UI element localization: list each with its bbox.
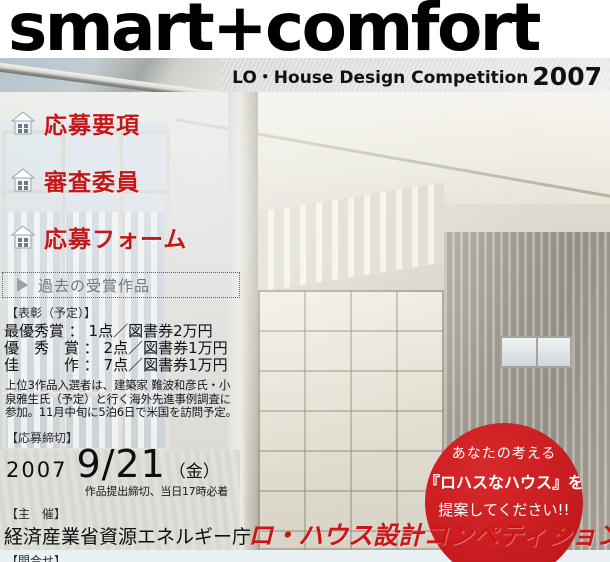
host-organization-name: 経済産業省資源エネルギー庁 [4, 522, 252, 549]
competition-title: ロ・ハウス設計コンペティション [248, 516, 610, 552]
nav-item-past-award-works[interactable]: 過去の受賞作品 [2, 272, 240, 298]
deadline-line: 2007 9/21 （金） [6, 445, 252, 483]
photo-shoji-screen [258, 290, 444, 550]
past-works-label: 過去の受賞作品 [38, 275, 150, 296]
photo-small-window [500, 336, 572, 368]
deadline-date: 9/21 [76, 445, 165, 483]
contact-section-tag: 【問合せ】 [6, 552, 252, 562]
deadline-day-of-week: （金） [169, 457, 220, 482]
host-section-tag: 【主 催】 [6, 505, 252, 522]
deadline-note: 作品提出締切、当日17時必着 [0, 483, 228, 499]
prize-list: 最優秀賞 ： 1点／図書券2万円 優 秀 賞 ： 2点／図書券1万円 佳 作 ：… [4, 323, 252, 374]
awards-note: 上位3作品入選者は、建築家 難波和彦氏・小泉雅生氏（予定）と行く海外先進事例調査… [5, 379, 240, 420]
prize-row: 優 秀 賞 ： 2点／図書券1万円 [4, 340, 252, 357]
header-subtitle: LO・House Design Competition2007 [232, 62, 602, 91]
nav-item-label: 応募フォーム [44, 220, 187, 254]
photo-small-window-divider [536, 338, 538, 366]
header-subtitle-text: LO・House Design Competition [232, 68, 528, 88]
deadline-year: 2007 [6, 458, 67, 482]
nav-item-jury[interactable]: 審査委員 [0, 161, 244, 199]
house-icon [10, 110, 36, 136]
nav-item-application-form[interactable]: 応募フォーム [0, 218, 244, 256]
poster-page: smart+comfort LO・House Design Competitio… [0, 0, 610, 562]
header-year: 2007 [532, 62, 602, 91]
logo-wordmark: smart+comfort [8, 0, 539, 64]
info-panel: 【表彰（予定）】 最優秀賞 ： 1点／図書券2万円 優 秀 賞 ： 2点／図書券… [0, 304, 252, 562]
house-icon [10, 167, 36, 193]
site-header: smart+comfort LO・House Design Competitio… [0, 0, 610, 92]
nav-item-application-guidelines[interactable]: 応募要項 [0, 104, 244, 142]
main-navigation: 応募要項 審査委員 [0, 104, 244, 275]
photo-shoji-grid [258, 290, 444, 550]
awards-section-tag: 【表彰（予定）】 [6, 304, 252, 321]
prize-row: 最優秀賞 ： 1点／図書券2万円 [4, 323, 252, 340]
play-triangle-icon [17, 278, 28, 292]
header-beam-decoration [0, 62, 225, 92]
nav-item-label: 応募要項 [44, 106, 140, 140]
badge-line-1: あなたの考える [452, 443, 557, 463]
nav-item-label: 審査委員 [44, 163, 140, 197]
house-icon [10, 224, 36, 250]
badge-line-2: 『ロハスなハウス』を [425, 469, 583, 493]
prize-row: 佳 作 ： 7点／図書券1万円 [4, 357, 252, 374]
